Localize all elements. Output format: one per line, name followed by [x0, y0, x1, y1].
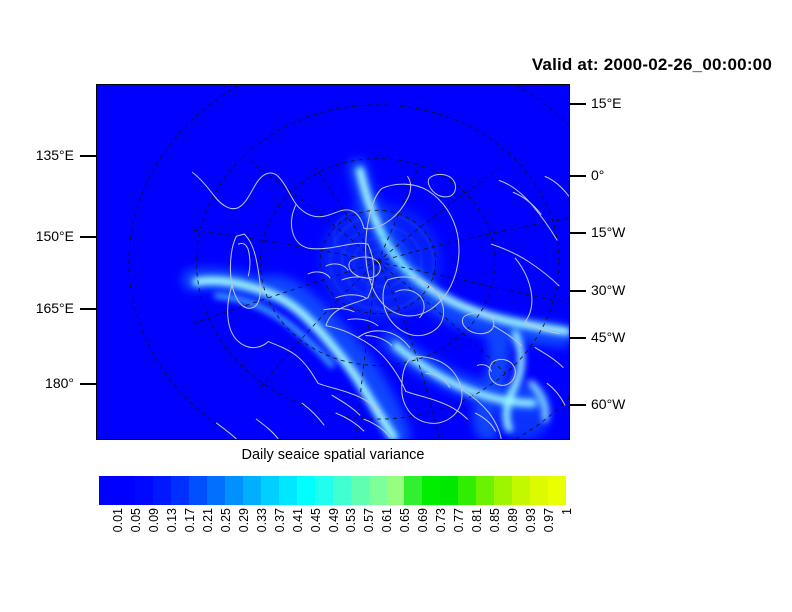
colorbar-tick-label-10: 0.41	[292, 508, 305, 532]
colorbar-band-19	[440, 476, 458, 505]
colorbar-tick-label-0: 0.01	[112, 508, 125, 532]
colorbar-band-14	[351, 476, 369, 505]
x-axis-caption: Daily seaice spatial variance	[96, 447, 570, 463]
tick-right-4	[570, 337, 586, 339]
colorbar-band-16	[387, 476, 405, 505]
colorbar-band-5	[189, 476, 207, 505]
colorbar-tick-label-3: 0.13	[166, 508, 179, 532]
tick-left-3	[80, 383, 96, 385]
axis-right-label-0: 15°E	[591, 96, 622, 110]
colorbar-band-22	[494, 476, 512, 505]
tick-left-1	[80, 236, 96, 238]
colorbar-band-21	[476, 476, 494, 505]
colorbar-gradient	[99, 476, 566, 505]
map-plot-area	[96, 84, 570, 440]
axis-right-label-2: 15°W	[591, 225, 625, 239]
colorbar-tick-label-21: 0.85	[489, 508, 502, 532]
colorbar-tick-label-18: 0.73	[435, 508, 448, 532]
colorbar-band-7	[225, 476, 243, 505]
colorbar-tick-label-9: 0.37	[274, 508, 287, 532]
colorbar-tick-label-5: 0.21	[202, 508, 215, 532]
colorbar-tick-label-24: 0.97	[543, 508, 556, 532]
colorbar-band-17	[404, 476, 422, 505]
tick-left-0	[80, 155, 96, 157]
colorbar-tick-label-16: 0.65	[399, 508, 412, 532]
colorbar-tick-labels: 0.010.050.090.130.170.210.250.290.330.37…	[99, 508, 566, 568]
colorbar-band-25	[548, 476, 566, 505]
colorbar-band-12	[315, 476, 333, 505]
colorbar	[99, 476, 566, 505]
colorbar-band-20	[458, 476, 476, 505]
colorbar-tick-label-15: 0.61	[381, 508, 394, 532]
colorbar-tick-label-2: 0.09	[148, 508, 161, 532]
axis-right-label-4: 45°W	[591, 330, 625, 344]
colorbar-tick-label-14: 0.57	[363, 508, 376, 532]
colorbar-band-24	[530, 476, 548, 505]
tick-right-0	[570, 103, 586, 105]
map-canvas	[97, 85, 569, 439]
colorbar-tick-label-17: 0.69	[417, 508, 430, 532]
colorbar-band-23	[512, 476, 530, 505]
colorbar-band-13	[333, 476, 351, 505]
colorbar-tick-label-19: 0.77	[453, 508, 466, 532]
colorbar-band-11	[297, 476, 315, 505]
axis-left-label-2: 165°E	[36, 301, 74, 315]
colorbar-band-4	[171, 476, 189, 505]
tick-right-2	[570, 232, 586, 234]
colorbar-band-10	[279, 476, 297, 505]
colorbar-band-18	[422, 476, 440, 505]
page-title: Valid at: 2000-02-26_00:00:00	[0, 55, 772, 75]
colorbar-band-0	[99, 476, 117, 505]
tick-right-3	[570, 290, 586, 292]
tick-right-5	[570, 404, 586, 406]
tick-right-1	[570, 175, 586, 177]
axis-right-label-1: 0°	[591, 168, 604, 182]
colorbar-tick-label-8: 0.33	[256, 508, 269, 532]
axis-left-label-3: 180°	[45, 376, 74, 390]
tick-left-2	[80, 308, 96, 310]
colorbar-tick-label-7: 0.29	[238, 508, 251, 532]
colorbar-band-8	[243, 476, 261, 505]
colorbar-tick-label-1: 0.05	[130, 508, 143, 532]
colorbar-tick-label-12: 0.49	[328, 508, 341, 532]
colorbar-tick-label-6: 0.25	[220, 508, 233, 532]
colorbar-band-15	[369, 476, 387, 505]
colorbar-band-6	[207, 476, 225, 505]
colorbar-band-1	[117, 476, 135, 505]
colorbar-tick-label-13: 0.53	[345, 508, 358, 532]
colorbar-band-9	[261, 476, 279, 505]
colorbar-band-2	[135, 476, 153, 505]
colorbar-tick-label-22: 0.89	[507, 508, 520, 532]
colorbar-tick-label-11: 0.45	[310, 508, 323, 532]
colorbar-tick-label-25: 1	[561, 508, 574, 515]
colorbar-tick-label-4: 0.17	[184, 508, 197, 532]
axis-right-label-5: 60°W	[591, 397, 625, 411]
axis-left-label-0: 135°E	[36, 148, 74, 162]
axis-right-label-3: 30°W	[591, 283, 625, 297]
colorbar-tick-label-20: 0.81	[471, 508, 484, 532]
colorbar-tick-label-23: 0.93	[525, 508, 538, 532]
colorbar-band-3	[153, 476, 171, 505]
axis-left-label-1: 150°E	[36, 229, 74, 243]
